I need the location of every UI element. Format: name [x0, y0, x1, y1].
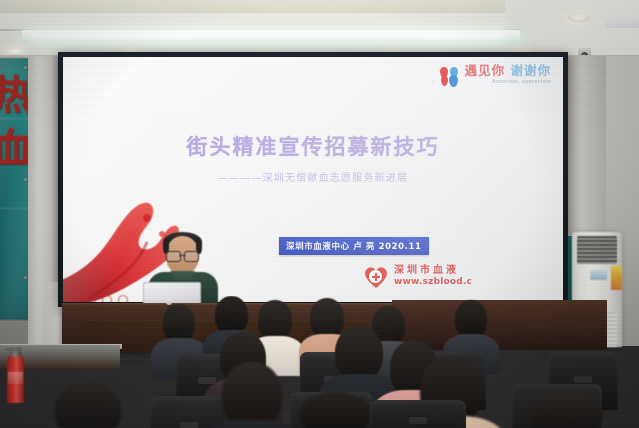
slide-subtitle: ————深圳无偿献血志愿服务新进展 [63, 169, 563, 184]
slide-blood-center-logo: 深圳市血液 www.szblood.c [363, 264, 472, 288]
eyeglasses-icon [166, 251, 199, 260]
projection-screen: l, 遇见你 谢谢你 Associate, appreciate 街头精准宣传招… [63, 57, 563, 302]
wall-banner-left-text: 热血 [0, 74, 28, 180]
head [163, 304, 195, 342]
slide-logo-chinese-part1: 遇见你 [465, 63, 506, 78]
slide-logo-english: Associate, appreciate [465, 80, 551, 85]
head [55, 382, 121, 428]
slide-title: 街头精准宣传招募新技巧 [63, 131, 563, 161]
head [310, 298, 344, 338]
head [258, 300, 292, 340]
air-conditioner-label [611, 266, 622, 290]
audience-area [0, 296, 639, 428]
head [222, 362, 282, 428]
conference-room-photo: 热血 生命相托 l, 遇见你 谢谢你 Associat [0, 0, 639, 428]
chair [150, 396, 228, 428]
head [530, 392, 602, 428]
ceiling-vent-icon [605, 18, 639, 28]
heart-cross-icon [363, 264, 389, 288]
head [455, 300, 487, 338]
head [335, 326, 383, 380]
slide-credit-banner: 深圳市血液中心 卢 亮 2020.11 [279, 237, 429, 255]
downlight-icon [568, 13, 590, 22]
wall-column-right [566, 56, 606, 236]
chair [370, 400, 466, 428]
fluorescent-strip-light-core [32, 32, 502, 37]
blood-center-name: 深圳市血液 [394, 265, 472, 277]
blood-center-url: www.szblood.c [394, 277, 472, 287]
slide-logo-chinese: 遇见你 谢谢你 [465, 65, 551, 78]
air-conditioner-grille [577, 236, 617, 264]
head [300, 392, 370, 428]
ceiling-right-section [505, 0, 639, 58]
logo-tiny-mark: l, [432, 78, 434, 83]
slide-logo: l, 遇见你 谢谢你 Associate, appreciate [440, 65, 551, 88]
head [215, 296, 248, 334]
air-conditioner-display-panel[interactable] [590, 270, 607, 280]
blood-drop-logo-icon: l, [440, 67, 461, 88]
downlight-icon [6, 48, 24, 55]
slide-logo-chinese-part2: 谢谢你 [510, 63, 551, 78]
